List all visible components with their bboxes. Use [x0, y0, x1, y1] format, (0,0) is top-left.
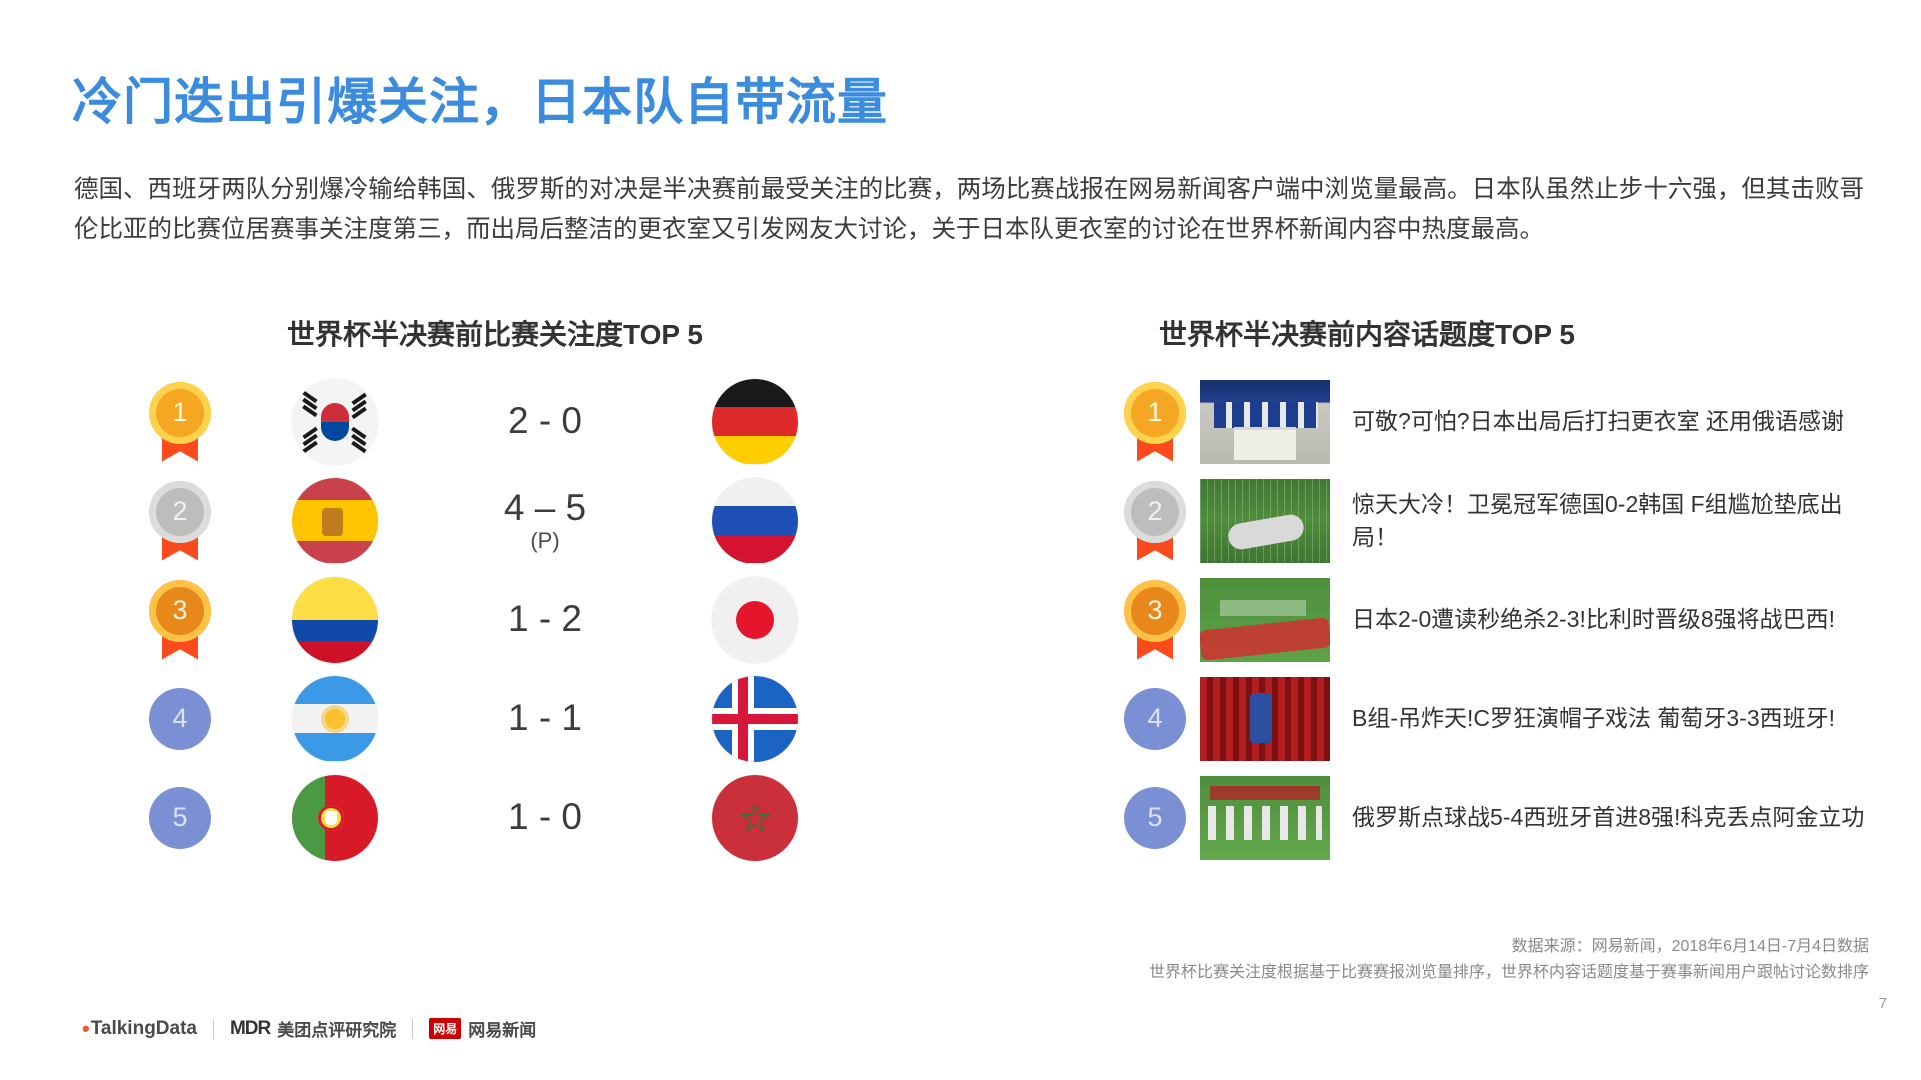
flag-argentina-icon — [292, 676, 378, 762]
match-score: 1 - 0 — [430, 798, 660, 837]
flag-iceland-icon — [712, 676, 798, 762]
table-row[interactable]: 2 4 – 5 (P) — [120, 471, 960, 570]
logo-netease-news: 网易 网易新闻 — [429, 1016, 536, 1041]
rank-badge: 4 — [1124, 688, 1186, 750]
flag-portugal-icon — [292, 775, 378, 861]
footer-logos: • TalkingData MDR 美团点评研究院 网易 网易新闻 — [82, 1016, 536, 1041]
logo-divider — [213, 1019, 214, 1039]
headline-text: 日本2-0遭读秒绝杀2-3!比利时晋级8强将战巴西! — [1352, 603, 1872, 636]
headline-text: B组-吊炸天!C罗狂演帽子戏法 葡萄牙3-3西班牙! — [1352, 702, 1872, 735]
list-item[interactable]: 2 惊天大冷！卫冕冠军德国0-2韩国 F组尴尬垫底出局！ — [1110, 471, 1920, 570]
away-flag-cell — [660, 379, 850, 465]
rank-number: 2 — [1124, 481, 1186, 543]
home-flag-cell — [240, 379, 430, 465]
headline-text: 惊天大冷！卫冕冠军德国0-2韩国 F组尴尬垫底出局！ — [1352, 488, 1872, 554]
match-score: 1 - 2 — [430, 600, 660, 639]
rank-cell: 3 — [120, 580, 240, 660]
score-main: 1 - 1 — [508, 697, 582, 738]
source-line-1: 数据来源：网易新闻，2018年6月14日-7月4日数据 — [1149, 934, 1869, 960]
away-flag-cell — [660, 676, 850, 762]
flag-morocco-icon: ☆ — [712, 775, 798, 861]
flag-russia-icon — [712, 478, 798, 564]
rank-cell: 2 — [120, 481, 240, 561]
gold-medal-icon: 1 — [149, 382, 211, 462]
thumbnail-image — [1200, 677, 1330, 761]
table-row[interactable]: 5 1 - 0 ☆ — [120, 768, 960, 867]
silver-medal-icon: 2 — [149, 481, 211, 561]
flag-south-korea-icon — [292, 379, 378, 465]
source-note: 数据来源：网易新闻，2018年6月14日-7月4日数据 世界杯比赛关注度根据基于… — [1149, 934, 1869, 986]
rank-badge: 5 — [1124, 787, 1186, 849]
left-panel-heading: 世界杯半决赛前比赛关注度TOP 5 — [287, 313, 703, 353]
flag-japan-icon — [712, 577, 798, 663]
away-flag-cell: ☆ — [660, 775, 850, 861]
rank-cell: 5 — [1110, 787, 1200, 849]
match-score: 4 – 5 (P) — [430, 489, 660, 553]
logo-talkingdata: • TalkingData — [82, 1018, 197, 1040]
table-row[interactable]: 4 1 - 1 — [120, 669, 960, 768]
score-main: 1 - 0 — [508, 796, 582, 837]
logo-meituan-research: MDR 美团点评研究院 — [230, 1016, 396, 1041]
rank-cell: 3 — [1110, 580, 1200, 660]
thumbnail-image — [1200, 479, 1330, 563]
flag-spain-icon — [292, 478, 378, 564]
rank-cell: 4 — [1110, 688, 1200, 750]
rank-number: 2 — [149, 481, 211, 543]
list-item[interactable]: 4 B组-吊炸天!C罗狂演帽子戏法 葡萄牙3-3西班牙! — [1110, 669, 1920, 768]
thumbnail-image — [1200, 380, 1330, 464]
mdr-mark-icon: MDR — [230, 1018, 270, 1040]
right-panel-heading: 世界杯半决赛前内容话题度TOP 5 — [1159, 313, 1575, 353]
rank-number: 3 — [1124, 580, 1186, 642]
score-main: 4 – 5 — [504, 487, 586, 528]
rank-badge: 4 — [149, 688, 211, 750]
rank-cell: 2 — [1110, 481, 1200, 561]
logo-divider — [412, 1019, 413, 1039]
rank-number: 1 — [149, 382, 211, 444]
bronze-medal-icon: 3 — [1124, 580, 1186, 660]
gold-medal-icon: 1 — [1124, 382, 1186, 462]
silver-medal-icon: 2 — [1124, 481, 1186, 561]
intro-paragraph: 德国、西班牙两队分别爆冷输给韩国、俄罗斯的对决是半决赛前最受关注的比赛，两场比赛… — [74, 170, 1864, 250]
rank-badge: 5 — [149, 787, 211, 849]
topic-ranking-list: 1 可敬?可怕?日本出局后打扫更衣室 还用俄语感谢 2 惊天大冷！卫冕冠军德国0… — [1110, 372, 1920, 867]
headline-text: 可敬?可怕?日本出局后打扫更衣室 还用俄语感谢 — [1352, 405, 1872, 438]
list-item[interactable]: 3 日本2-0遭读秒绝杀2-3!比利时晋级8强将战巴西! — [1110, 570, 1920, 669]
table-row[interactable]: 3 1 - 2 — [120, 570, 960, 669]
rank-cell: 4 — [120, 688, 240, 750]
away-flag-cell — [660, 478, 850, 564]
headline-text: 俄罗斯点球战5-4西班牙首进8强!科克丢点阿金立功 — [1352, 801, 1872, 834]
page-title: 冷门迭出引爆关注，日本队自带流量 — [72, 62, 888, 134]
rank-cell: 1 — [1110, 382, 1200, 462]
logo-mdr-text: 美团点评研究院 — [277, 1016, 396, 1041]
flag-colombia-icon — [292, 577, 378, 663]
logo-163-text: 网易新闻 — [468, 1016, 536, 1041]
bronze-medal-icon: 3 — [149, 580, 211, 660]
source-line-2: 世界杯比赛关注度根据基于比赛赛报浏览量排序，世界杯内容话题度基于赛事新闻用户跟帖… — [1149, 960, 1869, 986]
rank-cell: 5 — [120, 787, 240, 849]
list-item[interactable]: 5 俄罗斯点球战5-4西班牙首进8强!科克丢点阿金立功 — [1110, 768, 1920, 867]
match-ranking-list: 1 — [120, 372, 960, 867]
thumbnail-image — [1200, 578, 1330, 662]
rank-number: 3 — [149, 580, 211, 642]
away-flag-cell — [660, 577, 850, 663]
talkingdata-mark-icon: • — [82, 1018, 90, 1040]
rank-cell: 1 — [120, 382, 240, 462]
netease-badge-icon: 网易 — [429, 1018, 461, 1039]
flag-germany-icon — [712, 379, 798, 465]
rank-number: 1 — [1124, 382, 1186, 444]
score-note: (P) — [430, 529, 660, 552]
table-row[interactable]: 1 — [120, 372, 960, 471]
logo-talkingdata-text: TalkingData — [91, 1018, 197, 1040]
slide: 冷门迭出引爆关注，日本队自带流量 德国、西班牙两队分别爆冷输给韩国、俄罗斯的对决… — [0, 0, 1921, 1080]
home-flag-cell — [240, 478, 430, 564]
match-score: 1 - 1 — [430, 699, 660, 738]
home-flag-cell — [240, 577, 430, 663]
page-number: 7 — [1879, 995, 1887, 1012]
home-flag-cell — [240, 775, 430, 861]
home-flag-cell — [240, 676, 430, 762]
score-main: 1 - 2 — [508, 598, 582, 639]
list-item[interactable]: 1 可敬?可怕?日本出局后打扫更衣室 还用俄语感谢 — [1110, 372, 1920, 471]
thumbnail-image — [1200, 776, 1330, 860]
score-main: 2 - 0 — [508, 400, 582, 441]
match-score: 2 - 0 — [430, 402, 660, 441]
